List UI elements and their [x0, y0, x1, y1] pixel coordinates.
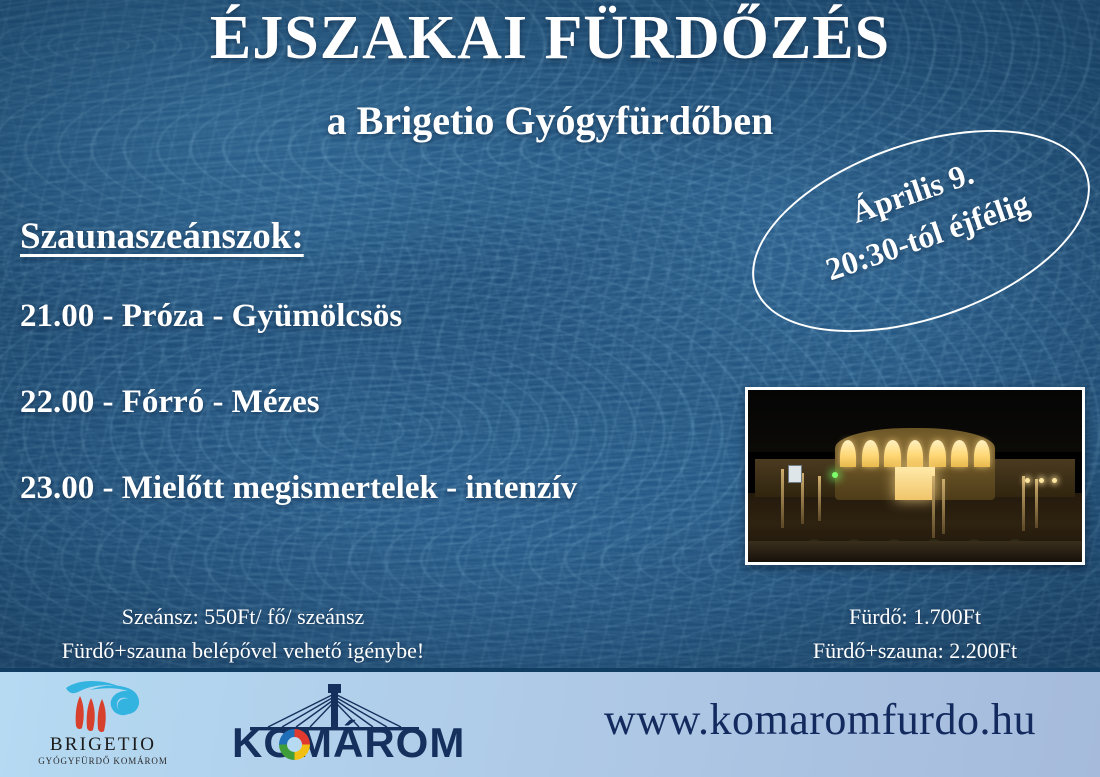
website-url[interactable]: www.komaromfurdo.hu	[560, 694, 1080, 745]
photo-lamp-post	[1035, 479, 1038, 527]
brigetio-logo-name: BRIGETIO	[38, 734, 168, 756]
price-block-entry: Fürdő: 1.700Ft Fürdő+szauna: 2.200Ft	[740, 600, 1090, 668]
photo-green-light	[832, 472, 838, 478]
photo-arched-windows	[840, 440, 990, 468]
photo-lamp-post	[942, 479, 945, 534]
photo-lamp-post	[932, 476, 935, 538]
brigetio-wave-flame-icon	[60, 678, 152, 734]
photo-point-light	[1052, 478, 1057, 483]
photo-arch-window	[884, 440, 901, 468]
price-block-sessions: Szeánsz: 550Ft/ fő/ szeánsz Fürdő+szauna…	[8, 600, 478, 668]
price-bath: Fürdő: 1.700Ft	[740, 600, 1090, 634]
sessions-heading: Szaunaszeánszok:	[20, 215, 304, 258]
price-bath-sauna: Fürdő+szauna: 2.200Ft	[740, 634, 1090, 668]
photo-arch-window	[951, 440, 968, 468]
photo-arch-window	[840, 440, 857, 468]
sessions-list: 21.00 - Próza - Gyümölcsös 22.00 - Fórró…	[20, 298, 760, 556]
photo-entrance-glow	[895, 467, 935, 500]
photo-arch-window	[929, 440, 946, 468]
list-item: 23.00 - Mielőtt megismertelek - intenzív	[20, 470, 760, 507]
komarom-color-ring-icon	[279, 729, 310, 760]
photo-lamp-post	[1022, 476, 1025, 531]
spa-night-photo	[745, 387, 1085, 565]
brigetio-logo-subtitle: GYÓGYFÜRDŐ KOMÁROM	[38, 756, 168, 766]
poster-root: ÉJSZAKAI FÜRDŐZÉS a Brigetio Gyógyfürdőb…	[0, 0, 1100, 777]
komarom-logo-word: KOMÁROM	[232, 722, 437, 764]
komarom-logo: KOMÁROM	[232, 682, 437, 764]
photo-lamp-post	[818, 476, 821, 521]
photo-lamp-post	[781, 469, 784, 527]
price-session-note: Fürdő+szauna belépővel vehető igénybe!	[8, 634, 478, 668]
photo-arch-window	[862, 440, 879, 468]
photo-point-light	[1039, 478, 1044, 483]
photo-road	[748, 541, 1082, 562]
photo-arch-window	[907, 440, 924, 468]
price-session-fee: Szeánsz: 550Ft/ fő/ szeánsz	[8, 600, 478, 634]
page-title: ÉJSZAKAI FÜRDŐZÉS	[0, 6, 1100, 71]
list-item: 21.00 - Próza - Gyümölcsös	[20, 298, 760, 335]
photo-pedestrian-sign	[788, 465, 802, 483]
footer-bar: BRIGETIO GYÓGYFÜRDŐ KOMÁROM KO	[0, 668, 1100, 777]
photo-arch-window	[974, 440, 991, 468]
brigetio-logo: BRIGETIO GYÓGYFÜRDŐ KOMÁROM	[38, 676, 168, 774]
list-item: 22.00 - Fórró - Mézes	[20, 384, 760, 421]
